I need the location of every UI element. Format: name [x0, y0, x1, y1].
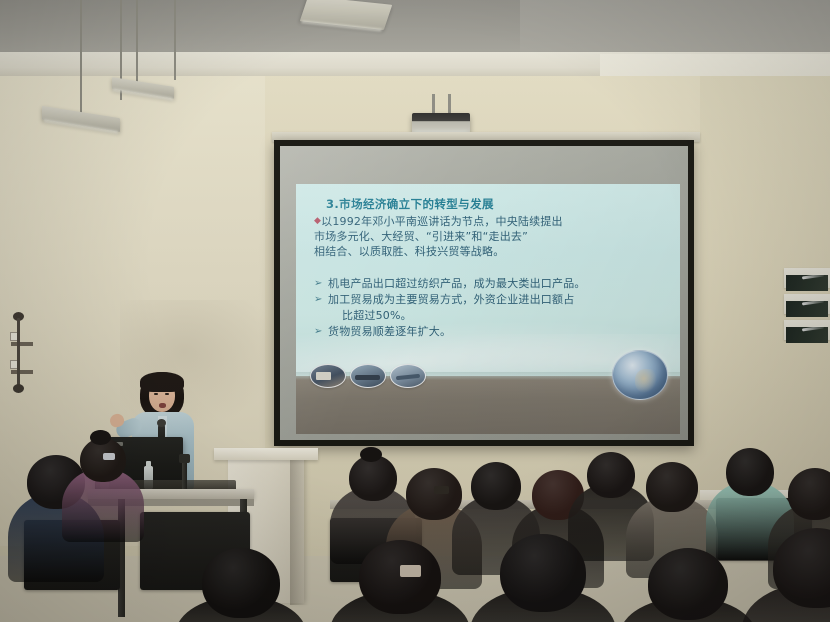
ship-thumbnail — [350, 364, 386, 388]
hair-clip — [400, 565, 421, 577]
bracket-rail — [17, 318, 20, 390]
panel-glass — [786, 275, 828, 291]
projected-slide: 3.市场经济确立下的转型与发展 ◆以1992年邓小平南巡讲话为节点，中央陆续提出… — [296, 184, 680, 434]
list-item: ➢ 加工贸易成为主要贸易方式，外资企业进出口额占 比超过50%。 — [314, 292, 670, 324]
bracket-knob — [13, 384, 24, 393]
slide-paragraph-line-1: 以1992年邓小平南巡讲话为节点，中央陆续提出 — [321, 215, 563, 228]
slide-paragraph: ◆以1992年邓小平南巡讲话为节点，中央陆续提出 市场多元化、大经贸、“引进来”… — [314, 214, 666, 259]
pendant-light-2 — [112, 0, 232, 120]
lecturer-eye — [165, 393, 169, 395]
globe-graphic — [612, 350, 668, 400]
wall-panel — [784, 294, 830, 314]
arrow-bullet-icon: ➢ — [314, 276, 323, 292]
hair-bun — [360, 447, 382, 463]
projection-screen: 3.市场经济确立下的转型与发展 ◆以1992年邓小平南巡讲话为节点，中央陆续提出… — [274, 140, 694, 446]
light-rod — [174, 0, 176, 80]
light-rod — [80, 0, 82, 118]
student-head — [202, 548, 280, 618]
student — [620, 548, 756, 622]
arrow-bullet-icon: ➢ — [314, 324, 323, 340]
student — [62, 438, 144, 556]
student-head — [359, 540, 441, 614]
student-head — [646, 462, 698, 512]
student-head — [788, 468, 830, 520]
student-head — [500, 534, 586, 612]
ceiling-projector — [412, 113, 470, 133]
podium-cap — [214, 448, 318, 460]
hair-clip — [434, 486, 449, 494]
lecturer-mouth — [159, 403, 166, 408]
classroom-photo: 3.市场经济确立下的转型与发展 ◆以1992年邓小平南巡讲话为节点，中央陆续提出… — [0, 0, 830, 622]
list-item-text: 机电产品出口超过纺织产品，成为最大类出口产品。 — [328, 277, 586, 290]
arrow-bullet-icon: ➢ — [314, 292, 323, 308]
list-item: ➢ 货物贸易顺差逐年扩大。 — [314, 324, 670, 340]
slide-bullet-list: ➢ 机电产品出口超过纺织产品，成为最大类出口产品。 ➢ 加工贸易成为主要贸易方式… — [314, 276, 670, 340]
slide-title: 3.市场经济确立下的转型与发展 — [326, 196, 494, 212]
student — [470, 534, 616, 622]
wall-bracket-left — [8, 312, 34, 396]
screen-surface: 3.市场经济确立下的转型与发展 ◆以1992年邓小平南巡讲话为节点，中央陆续提出… — [280, 146, 688, 440]
student — [742, 528, 830, 622]
student — [330, 540, 470, 622]
slide-paragraph-line-2: 市场多元化、大经贸、“引进来”和“走出去” — [314, 230, 528, 243]
truck-thumbnail — [310, 364, 346, 388]
panel-glass — [786, 301, 828, 317]
hair-clip — [103, 453, 115, 460]
lecturer-eye — [154, 393, 158, 395]
lecturer-fringe — [140, 372, 184, 392]
student-head — [648, 548, 728, 620]
list-item-text: 加工贸易成为主要贸易方式，外资企业进出口额占 — [328, 293, 574, 306]
slide-paragraph-line-3: 相结合、以质取胜、科技兴贸等战略。 — [314, 245, 504, 258]
bracket-shelf — [11, 370, 33, 374]
plane-thumbnail — [390, 364, 426, 388]
wall-panel — [784, 268, 830, 288]
wall-panels-right — [784, 268, 830, 346]
light-panel — [112, 77, 174, 99]
list-item-text: 货物贸易顺差逐年扩大。 — [328, 325, 451, 338]
list-item: ➢ 机电产品出口超过纺织产品，成为最大类出口产品。 — [314, 276, 670, 292]
light-rod — [136, 0, 138, 86]
mic-stand — [182, 460, 187, 490]
wall-panel — [784, 320, 830, 340]
bracket-shelf — [11, 342, 33, 346]
panel-glass — [786, 327, 828, 343]
student-head — [726, 448, 774, 496]
student — [176, 548, 306, 622]
list-item-subtext: 比超过50%。 — [328, 308, 670, 324]
